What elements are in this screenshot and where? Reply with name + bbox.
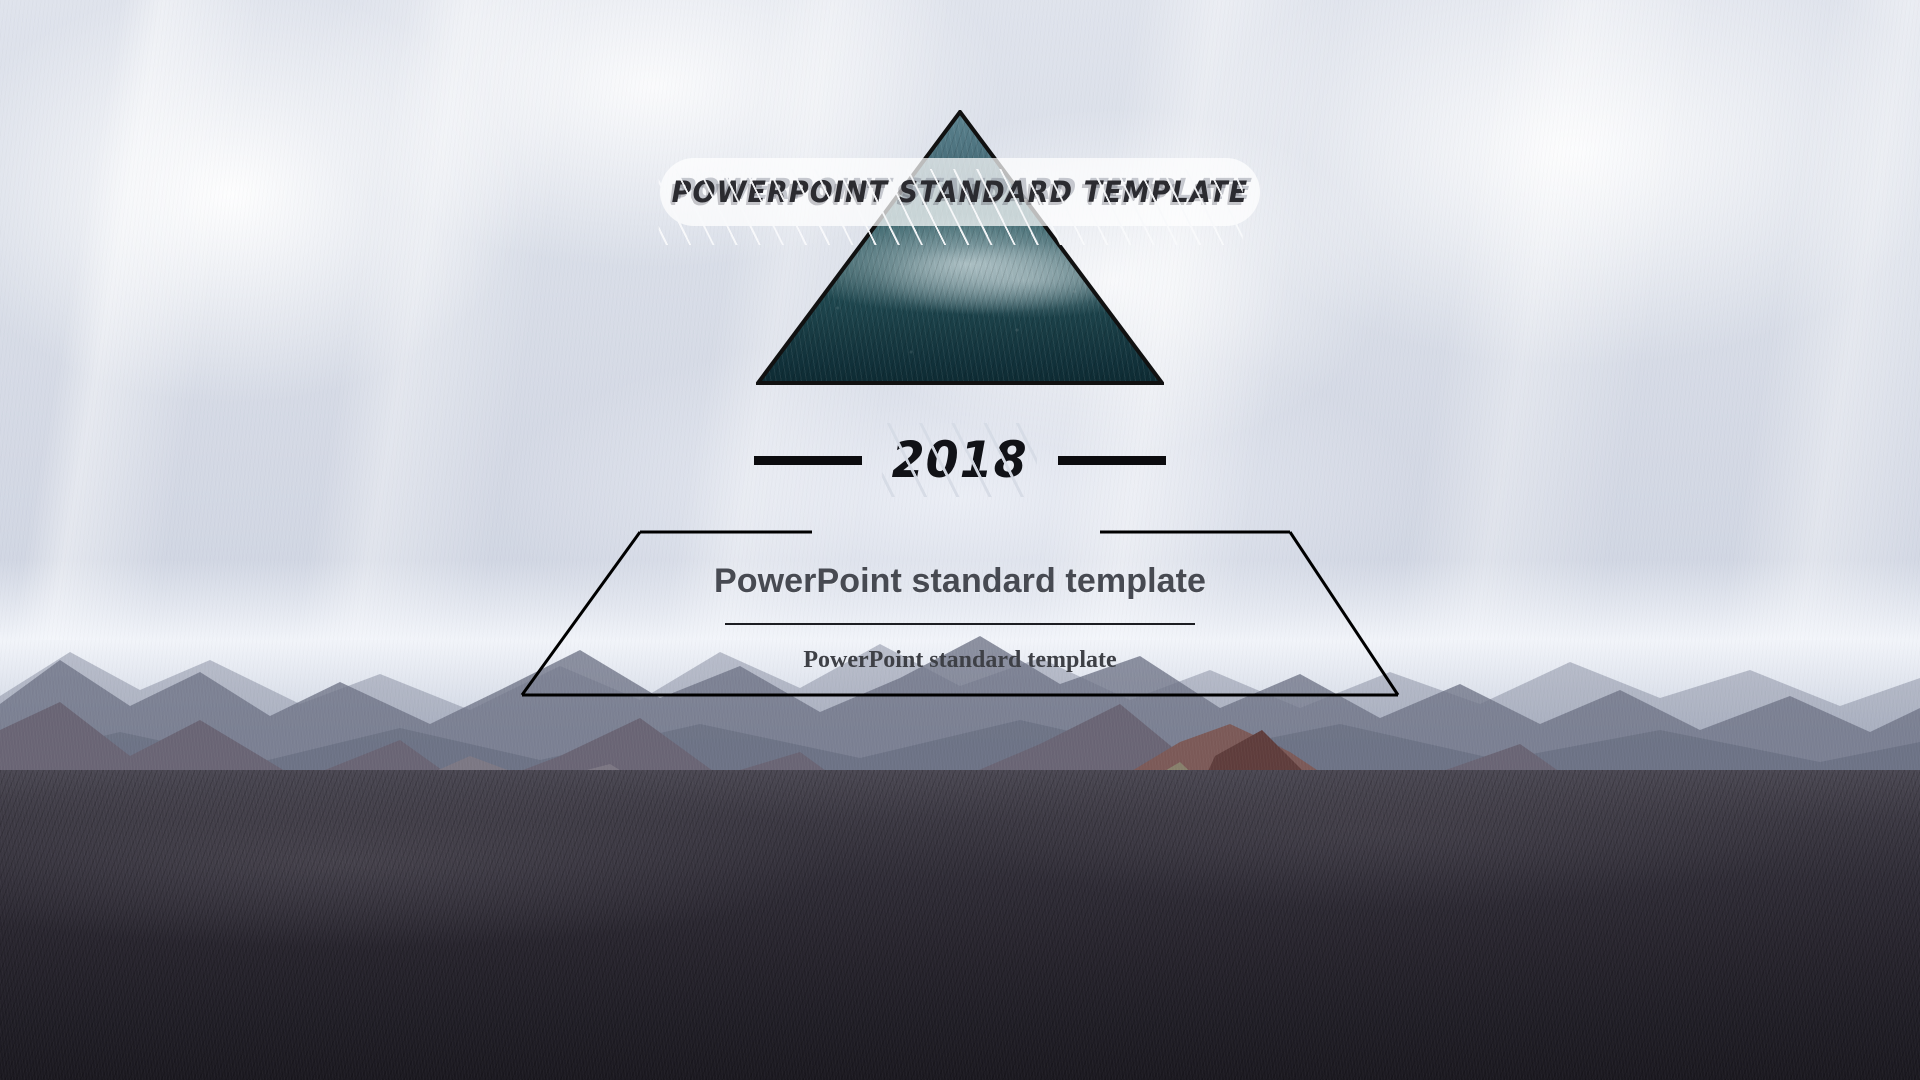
photo-filled-triangle [756, 110, 1164, 385]
lava-texture [0, 770, 1920, 1080]
year-label: 2018 [892, 431, 1028, 489]
body-subtitle: PowerPoint standard template [803, 647, 1116, 674]
presentation-slide: POWERPOINT STANDARD TEMPLATE POWERPOINT … [0, 0, 1920, 1080]
year-row: 2018 [700, 425, 1220, 495]
title-glitch-group: POWERPOINT STANDARD TEMPLATE POWERPOINT … [672, 175, 1249, 209]
year-text: 2018 [892, 431, 1028, 489]
body-divider [725, 623, 1195, 625]
triangle-outline [756, 110, 1164, 385]
year-right-dash [1058, 456, 1166, 465]
body-title: PowerPoint standard template [714, 562, 1206, 601]
page-title: POWERPOINT STANDARD TEMPLATE POWERPOINT … [681, 160, 1239, 224]
title-text: POWERPOINT STANDARD TEMPLATE [672, 175, 1249, 209]
trapezoid-content: PowerPoint standard template PowerPoint … [540, 540, 1380, 700]
lava-field [0, 770, 1920, 1080]
year-left-dash [754, 456, 862, 465]
